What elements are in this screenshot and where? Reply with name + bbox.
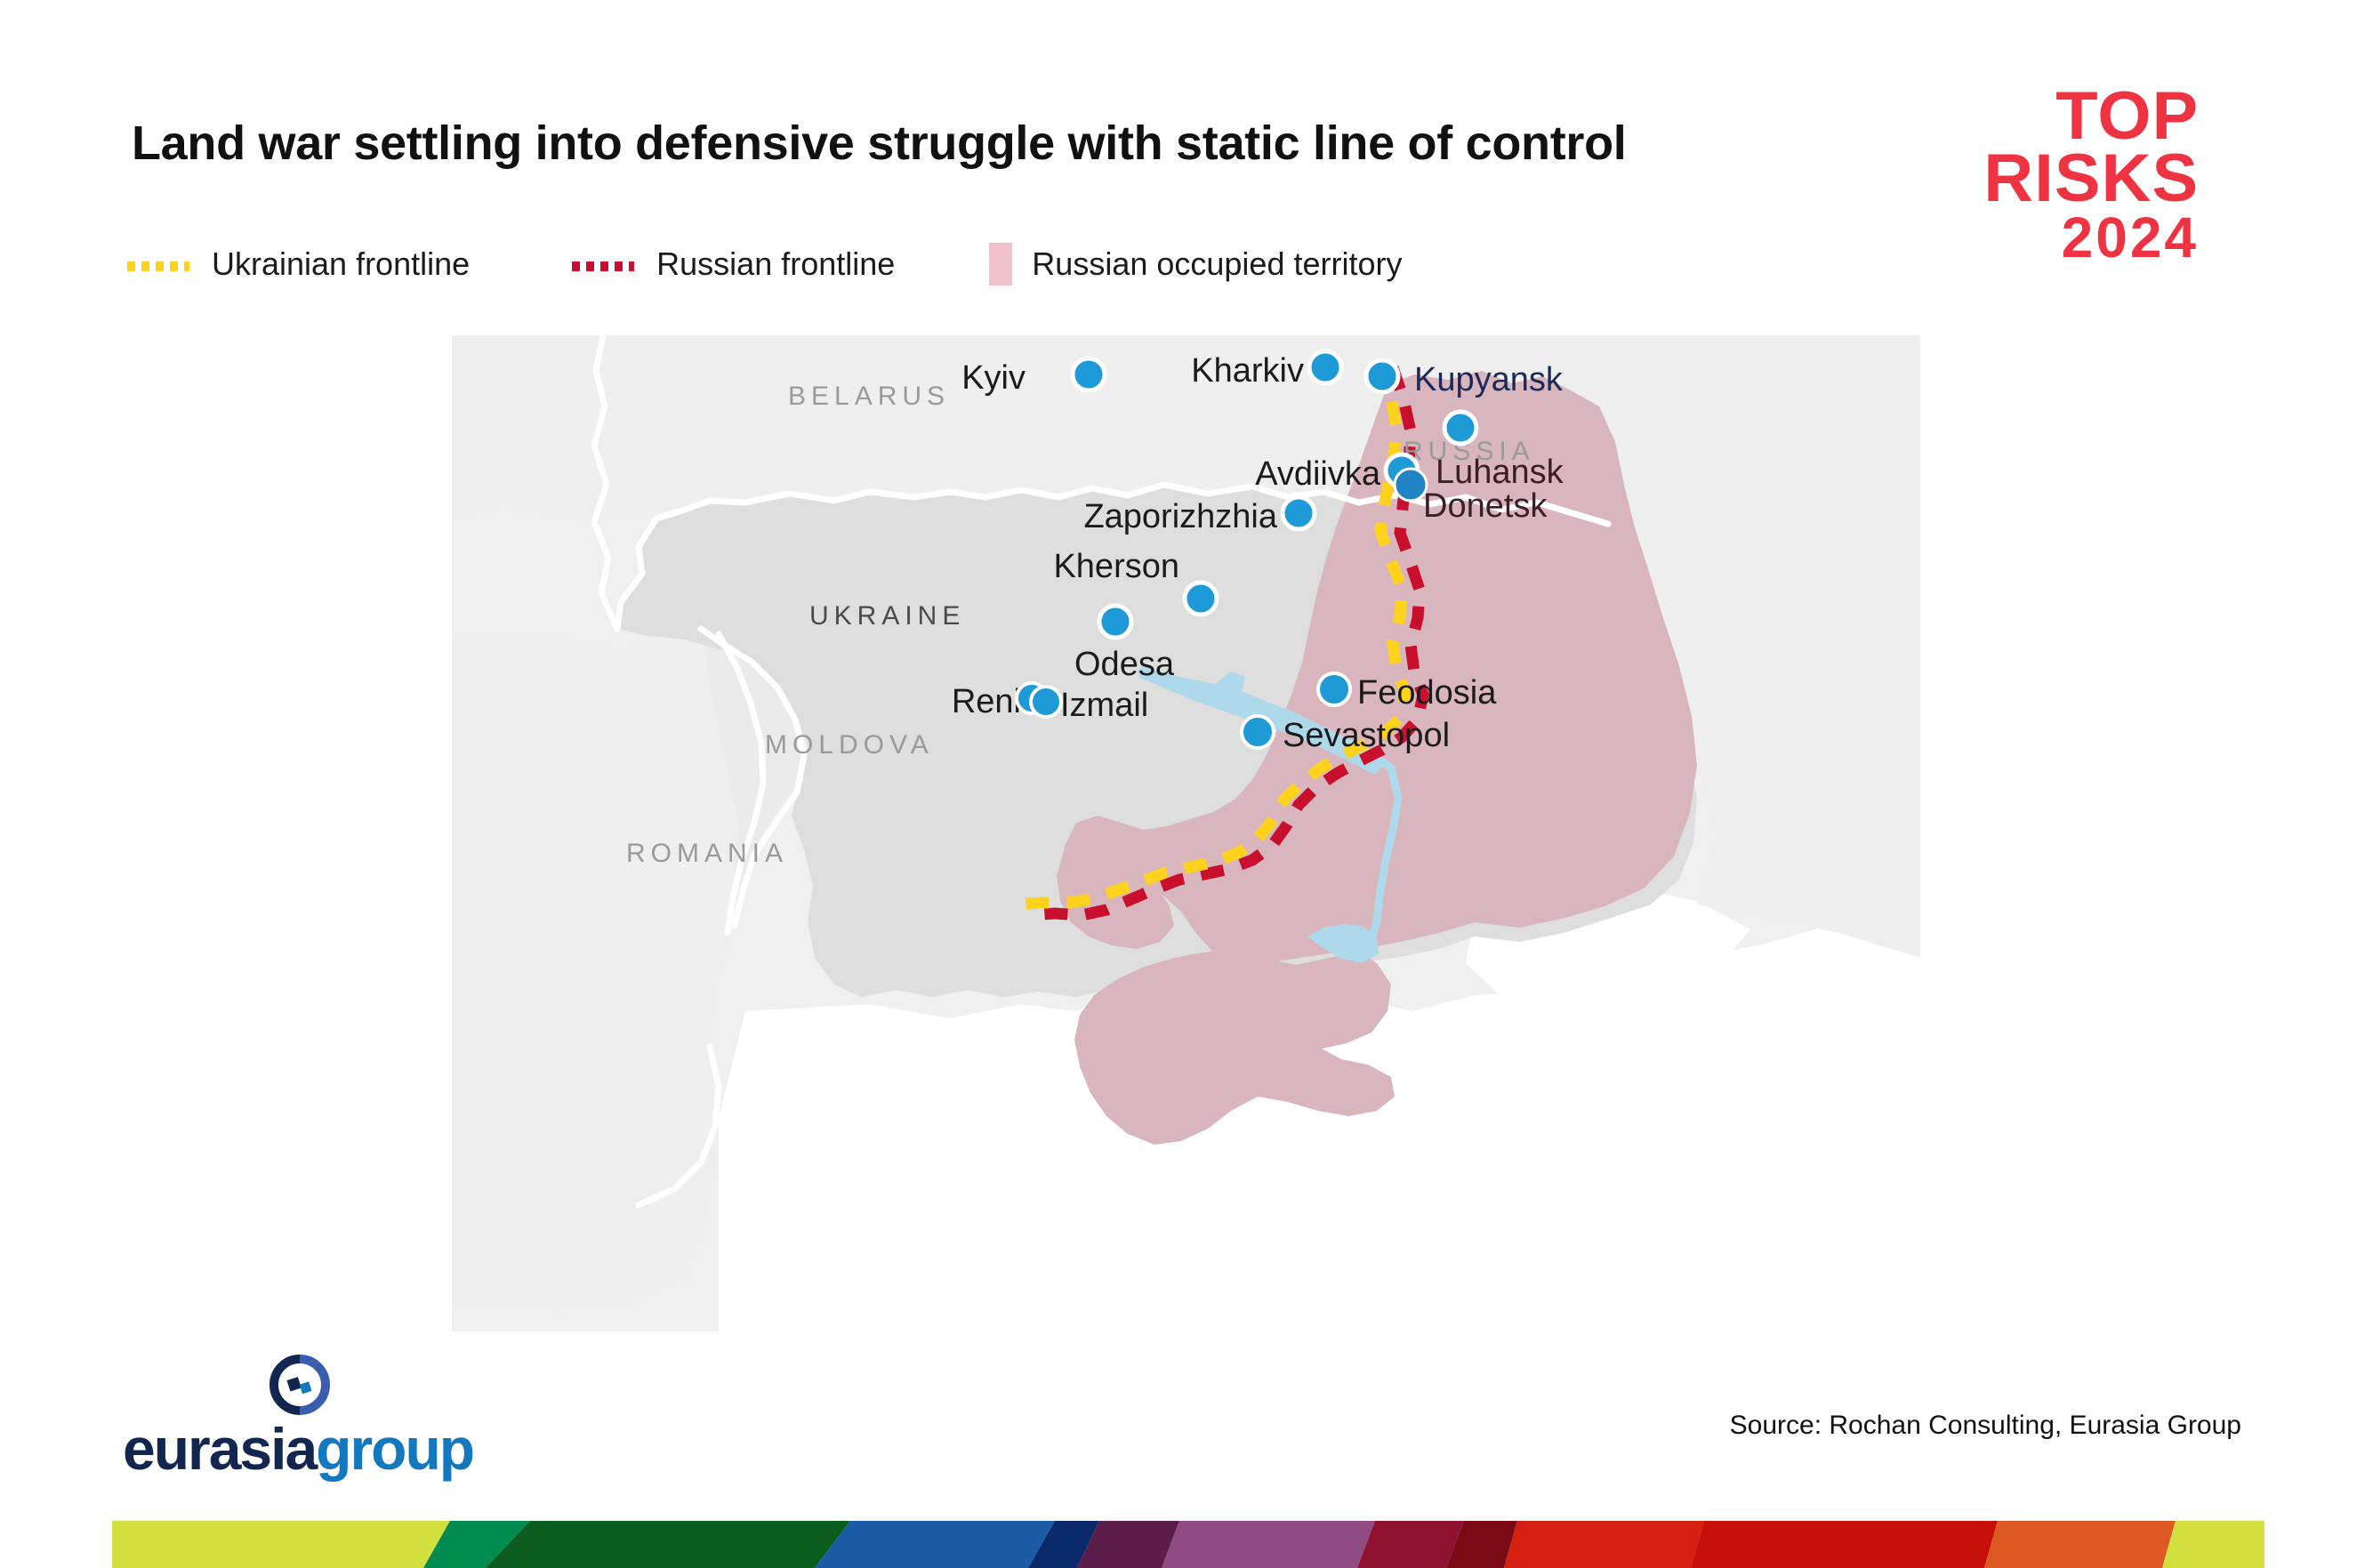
city-dot-kharkiv xyxy=(1309,351,1341,383)
colorbar-band-4 xyxy=(815,1521,1055,1568)
city-label-avdiivka: Avdiivka xyxy=(1255,455,1381,493)
colorbar-band-12 xyxy=(1984,1521,2176,1568)
country-label-ukraine: UKRAINE xyxy=(809,601,965,631)
city-label-kupyansk: Kupyansk xyxy=(1414,361,1564,398)
colorbar-band-1 xyxy=(112,1521,450,1568)
city-label-kherson: Kherson xyxy=(1053,548,1179,585)
city-dot-donetsk xyxy=(1395,469,1427,501)
city-label-kharkiv: Kharkiv xyxy=(1191,352,1304,390)
colorbar-band-8 xyxy=(1357,1521,1464,1568)
eurasia-group-mark-icon xyxy=(269,1354,331,1416)
city-dot-feodosia xyxy=(1318,673,1350,705)
country-label-romania: ROMANIA xyxy=(626,839,788,868)
city-dot-kherson xyxy=(1185,583,1217,615)
city-label-reni: Reni xyxy=(952,683,1021,720)
brand-color-bar xyxy=(112,1521,2264,1568)
logo-text-group: group xyxy=(316,1416,473,1482)
legend-item-ukrainian-frontline: Ukrainian frontline xyxy=(125,245,470,284)
city-label-donetsk: Donetsk xyxy=(1423,487,1548,525)
city-label-zaporizhzhia: Zaporizhzhia xyxy=(1083,498,1277,535)
legend-label-russian-occupied-territory: Russian occupied territory xyxy=(1032,245,1402,283)
source-attribution: Source: Rochan Consulting, Eurasia Group xyxy=(1730,1411,2241,1441)
city-label-izmail: Izmail xyxy=(1060,687,1148,724)
colorbar-band-7 xyxy=(1162,1521,1375,1568)
city-label-odesa: Odesa xyxy=(1074,646,1175,683)
top-risks-top-word: TOP xyxy=(1983,85,2199,148)
ukrainian-frontline-swatch-icon xyxy=(125,260,192,269)
legend-label-ukrainian-frontline: Ukrainian frontline xyxy=(212,245,470,283)
top-risks-risks-word: RISKS xyxy=(1983,148,2199,210)
page-title: Land war settling into defensive struggl… xyxy=(132,116,1955,171)
city-dot-luhansk xyxy=(1444,412,1476,444)
map-panel[interactable]: BELARUS RUSSIA UKRAINE MOLDOVA ROMANIA K… xyxy=(452,335,1920,1331)
country-label-belarus: BELARUS xyxy=(788,382,950,411)
city-label-sevastopol: Sevastopol xyxy=(1283,717,1450,754)
city-dot-kupyansk xyxy=(1366,360,1398,392)
eurasia-group-wordmark: eurasiagroup xyxy=(123,1419,473,1478)
russian-frontline-swatch-icon xyxy=(569,260,637,269)
city-label-luhansk: Luhansk xyxy=(1436,454,1565,491)
colorbar-band-11 xyxy=(1691,1521,1998,1568)
legend-label-russian-frontline: Russian frontline xyxy=(656,245,895,283)
country-label-moldova: MOLDOVA xyxy=(765,730,934,760)
russian-occupied-territory-swatch-icon xyxy=(989,243,1012,285)
legend-item-russian-occupied-territory: Russian occupied territory xyxy=(989,245,1402,284)
colorbar-band-13 xyxy=(2162,1521,2264,1568)
top-risks-logo: TOP RISKS 2024 xyxy=(1988,85,2199,264)
legend-item-russian-frontline: Russian frontline xyxy=(569,245,895,284)
city-label-kyiv: Kyiv xyxy=(961,359,1026,397)
city-dot-izmail xyxy=(1031,687,1061,717)
logo-text-eurasia: eurasia xyxy=(123,1416,316,1482)
city-dot-odesa xyxy=(1099,606,1131,638)
city-label-feodosia: Feodosia xyxy=(1357,674,1497,712)
city-dot-sevastopol xyxy=(1242,716,1274,748)
legend: Ukrainian frontline Russian frontline Ru… xyxy=(125,245,1402,284)
city-dot-zaporizhzhia xyxy=(1283,497,1315,529)
top-risks-year: 2024 xyxy=(1988,212,2199,264)
city-dot-kyiv xyxy=(1073,358,1105,390)
eurasia-group-logo: eurasiagroup xyxy=(123,1354,532,1487)
colorbar-band-10 xyxy=(1504,1521,1704,1568)
colorbar-band-3 xyxy=(486,1521,850,1568)
